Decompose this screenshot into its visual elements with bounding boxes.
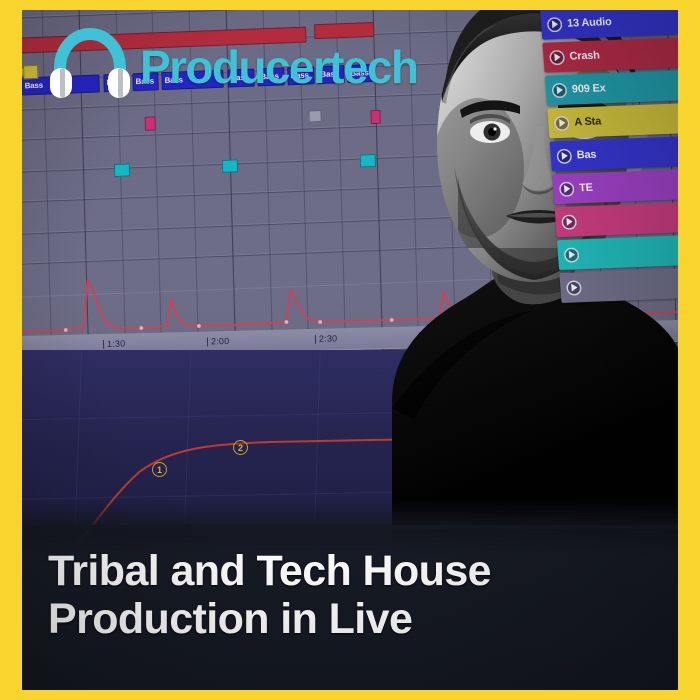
eq-node[interactable]: 2 bbox=[233, 440, 248, 455]
course-title-line-1: Tribal and Tech House bbox=[48, 547, 658, 595]
track-header[interactable]: Crash bbox=[542, 37, 678, 73]
brand-lockup: Producertech bbox=[44, 24, 417, 102]
midi-clip[interactable] bbox=[308, 110, 321, 122]
course-artwork: roll2 11-02 11-02 11-01 131 13-01 132 11… bbox=[0, 0, 700, 700]
midi-clip[interactable] bbox=[113, 164, 129, 178]
track-header-label: 13 Audio bbox=[567, 16, 612, 30]
play-icon[interactable] bbox=[549, 49, 565, 65]
play-icon[interactable] bbox=[559, 181, 575, 197]
midi-clip[interactable] bbox=[23, 65, 38, 80]
track-header[interactable]: 13 Audio bbox=[540, 10, 678, 40]
headphones-icon bbox=[44, 24, 136, 102]
track-header[interactable]: 909 Ex bbox=[545, 70, 678, 106]
track-header[interactable] bbox=[555, 201, 678, 237]
timeline-tick: 2:00 bbox=[211, 336, 230, 346]
title-band: Tribal and Tech House Production in Live bbox=[22, 525, 678, 690]
track-header[interactable]: A Sta bbox=[547, 103, 678, 139]
track-header-label: A Sta bbox=[574, 115, 602, 128]
track-header[interactable] bbox=[557, 234, 678, 270]
play-icon[interactable] bbox=[563, 247, 579, 263]
play-icon[interactable] bbox=[561, 214, 577, 230]
course-title-line-2: Production in Live bbox=[48, 595, 658, 643]
play-icon[interactable] bbox=[547, 16, 563, 32]
track-header-label: Crash bbox=[569, 49, 600, 62]
midi-clip[interactable] bbox=[221, 159, 237, 173]
timeline-tick: 2:30 bbox=[319, 333, 338, 343]
play-icon[interactable] bbox=[551, 82, 567, 98]
track-header-label: Bas bbox=[576, 149, 596, 162]
play-icon[interactable] bbox=[556, 148, 572, 164]
artwork-inner-frame: roll2 11-02 11-02 11-01 131 13-01 132 11… bbox=[22, 10, 678, 690]
track-header[interactable]: TE bbox=[552, 169, 678, 205]
track-header[interactable]: Bas bbox=[550, 136, 678, 172]
midi-clip[interactable] bbox=[144, 117, 155, 131]
brand-wordmark: Producertech bbox=[140, 44, 417, 90]
daw-track-header-list: 13 AudioCrash909 ExA StaBasTE bbox=[540, 10, 678, 339]
track-header-label: TE bbox=[579, 182, 594, 194]
timeline-tick: 1:30 bbox=[107, 338, 126, 348]
eq-node[interactable]: 1 bbox=[152, 462, 167, 477]
play-icon[interactable] bbox=[566, 280, 582, 296]
track-header-label: 909 Ex bbox=[572, 82, 607, 95]
play-icon[interactable] bbox=[554, 115, 570, 131]
course-title: Tribal and Tech House Production in Live bbox=[48, 547, 658, 643]
track-header[interactable] bbox=[559, 267, 678, 303]
